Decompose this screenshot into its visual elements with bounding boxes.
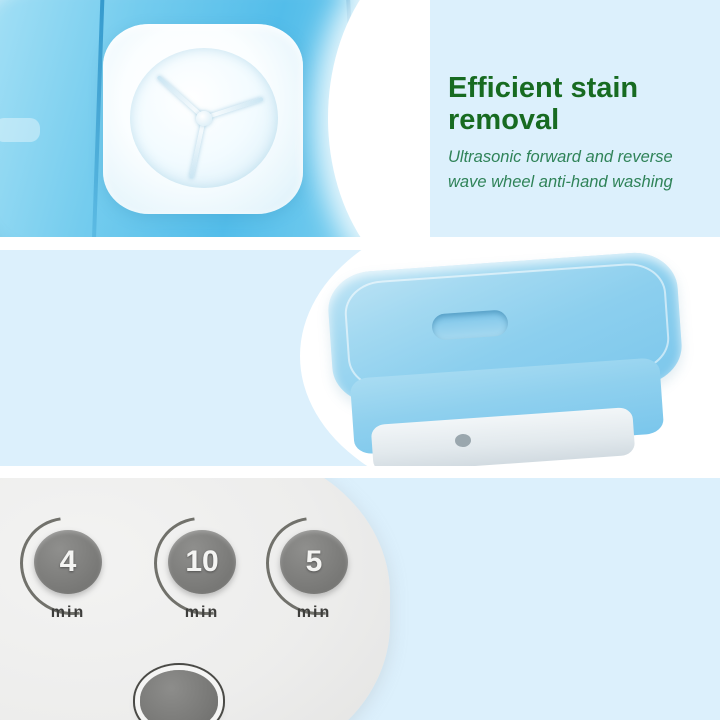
- stain-removal-heading: Efficient stain removal: [448, 72, 708, 137]
- washer-lid-handle: [431, 309, 509, 340]
- timer-unit-label: min: [34, 604, 102, 622]
- stain-removal-body: Ultrasonic forward and reverse wave whee…: [448, 145, 708, 195]
- timer-button-face[interactable]: 10: [168, 530, 236, 594]
- wave-wheel-icon: [130, 48, 278, 188]
- timer-unit-label: min: [280, 604, 348, 622]
- section-stain-removal: Efficient stain removal Ultrasonic forwa…: [0, 0, 720, 237]
- timer-value: 5: [306, 547, 323, 577]
- section-foldable: Foldable Travel, easy to put into the su…: [0, 250, 720, 466]
- timer-value: 10: [185, 547, 218, 577]
- section-divider-2: [0, 466, 720, 478]
- timer-button-face[interactable]: 5: [280, 530, 348, 594]
- section-timing: 4 min 10 min 5 min Timing Smart touch sc…: [0, 478, 720, 720]
- product-infographic: Efficient stain removal Ultrasonic forwa…: [0, 0, 720, 720]
- timer-button-face[interactable]: 4: [34, 530, 102, 594]
- section-divider-1: [0, 237, 720, 250]
- tub-notch-left: [0, 118, 40, 142]
- timer-value: 4: [60, 547, 77, 577]
- timer-unit-label: min: [168, 604, 236, 622]
- wave-wheel-hub: [196, 111, 212, 126]
- stain-removal-text-block: Efficient stain removal Ultrasonic forwa…: [448, 72, 708, 194]
